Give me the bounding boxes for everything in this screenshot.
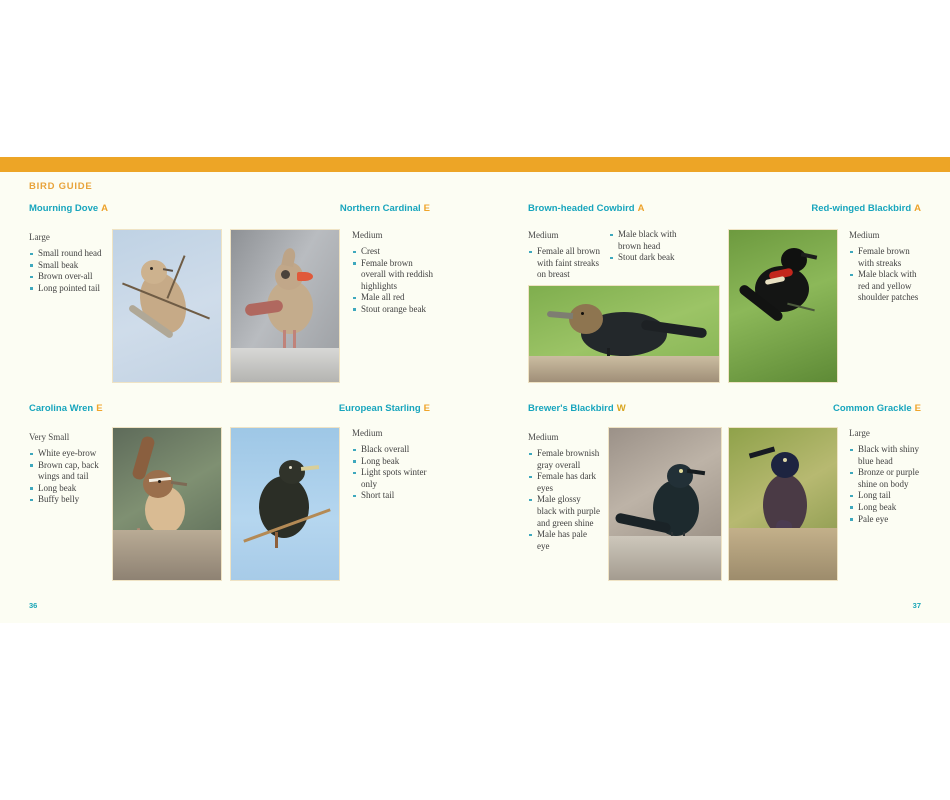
trait-list-northern-cardinal: Crest Female brown overall with reddish …: [352, 246, 438, 316]
trait-list-red-winged-blackbird: Female brown with streaks Male black wit…: [849, 246, 925, 304]
list-item: Bronze or purple shine on body: [849, 467, 925, 490]
list-item: Crest: [352, 246, 438, 258]
entry-title-red-winged-blackbird: Red-winged BlackbirdA: [735, 203, 921, 215]
list-item: Light spots winter only: [352, 467, 438, 490]
entry-body-common-grackle: Large Black with shiny blue head Bronze …: [849, 427, 925, 525]
page-number-right: 37: [913, 601, 921, 610]
list-item: Long beak: [352, 456, 438, 468]
list-item: Female brown overall with reddish highli…: [352, 258, 438, 293]
entry-title-mourning-dove: Mourning DoveA: [29, 203, 109, 215]
status-code: E: [424, 203, 430, 214]
list-item: Small round head: [29, 248, 109, 260]
status-code: A: [638, 203, 645, 214]
list-item: Pale eye: [849, 514, 925, 526]
entry-red-winged-blackbird: Red-winged BlackbirdA: [735, 203, 921, 215]
entry-common-grackle: Common GrackleE: [735, 403, 921, 415]
entry-body-northern-cardinal: Medium Crest Female brown overall with r…: [352, 229, 438, 316]
list-item: Long beak: [29, 483, 119, 495]
entry-european-starling: European StarlingE: [240, 403, 420, 415]
list-item: Female has dark eyes: [528, 471, 600, 494]
size-label: Medium: [849, 229, 925, 241]
bird-guide-spread: BIRD GUIDE Mourning DoveA Large Small ro…: [0, 157, 950, 623]
entry-title-brewers-blackbird: Brewer's BlackbirdW: [528, 403, 728, 415]
list-item: Stout orange beak: [352, 304, 438, 316]
right-page: Brown-headed CowbirdA Medium Female all …: [475, 157, 950, 623]
list-item: Long tail: [849, 490, 925, 502]
list-item: Long beak: [849, 502, 925, 514]
status-code: E: [96, 403, 102, 414]
entry-body-cowbird-col2: Male black with brown head Stout dark be…: [609, 229, 687, 264]
entry-carolina-wren: Carolina WrenE Very Small White eye-brow…: [29, 403, 119, 506]
list-item: Male all red: [352, 292, 438, 304]
list-item: Black overall: [352, 444, 438, 456]
common-grackle-photo: [728, 427, 838, 581]
trait-list-common-grackle: Black with shiny blue head Bronze or pur…: [849, 444, 925, 525]
trait-list-carolina-wren: White eye-brow Brown cap, back wings and…: [29, 448, 119, 506]
entry-title-carolina-wren: Carolina WrenE: [29, 403, 119, 415]
list-item: Short tail: [352, 490, 438, 502]
entry-title-northern-cardinal: Northern CardinalE: [240, 203, 430, 215]
entry-northern-cardinal: Northern CardinalE: [240, 203, 420, 215]
trait-list-cowbird-col2: Male black with brown head Stout dark be…: [609, 229, 687, 264]
list-item: Small beak: [29, 260, 109, 272]
trait-list-mourning-dove: Small round head Small beak Brown over-a…: [29, 248, 109, 294]
entry-title-european-starling: European StarlingE: [240, 403, 430, 415]
list-item: Female brown with streaks: [849, 246, 925, 269]
entry-title-brown-headed-cowbird: Brown-headed CowbirdA: [528, 203, 728, 215]
brown-headed-cowbird-photo: [528, 285, 720, 383]
size-label: Large: [849, 427, 925, 439]
entry-body-european-starling: Medium Black overall Long beak Light spo…: [352, 427, 438, 502]
northern-cardinal-photo: [230, 229, 340, 383]
entry-title-common-grackle: Common GrackleE: [735, 403, 921, 415]
status-code: A: [101, 203, 108, 214]
list-item: Male has pale eye: [528, 529, 600, 552]
carolina-wren-photo: [112, 427, 222, 581]
status-code: A: [914, 203, 921, 214]
list-item: Black with shiny blue head: [849, 444, 925, 467]
list-item: Brown over-all: [29, 271, 109, 283]
red-winged-blackbird-photo: [728, 229, 838, 383]
list-item: Female all brown with faint streaks on b…: [528, 246, 600, 281]
trait-list-cowbird-col1: Female all brown with faint streaks on b…: [528, 246, 600, 281]
list-item: Long pointed tail: [29, 283, 109, 295]
size-label: Medium: [528, 229, 600, 241]
trait-list-brewers-blackbird: Female brownish gray overall Female has …: [528, 448, 600, 552]
entry-body-red-winged-blackbird: Medium Female brown with streaks Male bl…: [849, 229, 925, 304]
status-code: E: [424, 403, 430, 414]
list-item: Brown cap, back wings and tail: [29, 460, 119, 483]
size-label: Medium: [352, 229, 438, 241]
size-label: Medium: [352, 427, 438, 439]
size-label: Large: [29, 231, 109, 243]
entry-body-cowbird-col1: Medium Female all brown with faint strea…: [528, 229, 600, 281]
page-number-left: 36: [29, 601, 37, 610]
list-item: Male glossy black with purple and green …: [528, 494, 600, 529]
list-item: Stout dark beak: [609, 252, 687, 264]
european-starling-photo: [230, 427, 340, 581]
status-code: W: [617, 403, 626, 414]
size-label: Very Small: [29, 431, 119, 443]
list-item: White eye-brow: [29, 448, 119, 460]
trait-list-european-starling: Black overall Long beak Light spots wint…: [352, 444, 438, 502]
entry-mourning-dove: Mourning DoveA Large Small round head Sm…: [29, 203, 109, 294]
list-item: Buffy belly: [29, 494, 119, 506]
entry-brown-headed-cowbird: Brown-headed CowbirdA: [528, 203, 728, 215]
status-code: E: [915, 403, 921, 414]
brewers-blackbird-photo: [608, 427, 722, 581]
left-page: Mourning DoveA Large Small round head Sm…: [0, 157, 475, 623]
list-item: Male black with brown head: [609, 229, 687, 252]
list-item: Male black with red and yellow shoulder …: [849, 269, 925, 304]
list-item: Female brownish gray overall: [528, 448, 600, 471]
mourning-dove-photo: [112, 229, 222, 383]
